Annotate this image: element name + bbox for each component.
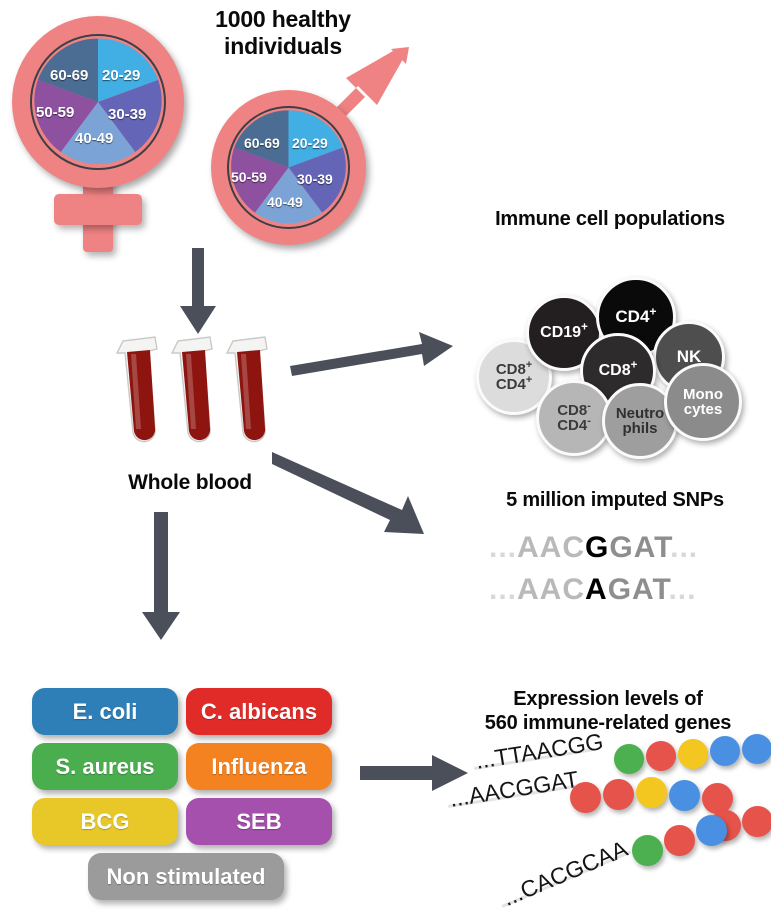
female-symbol: 20-29 30-39 40-49 50-59 60-69 (8, 12, 188, 262)
male-age-label-50-59: 50-59 (231, 169, 267, 185)
immune-cell-cluster: CD8+CD4+ CD19+ CD4+ NK CD8+ CD8-CD4- Neu… (470, 245, 760, 430)
stimulus-label-seb: SEB (236, 809, 281, 835)
male-age-label-20-29: 20-29 (292, 135, 328, 151)
expression-chains: ...TTAACGG ...AACGGAT ...CACGCAA (452, 740, 771, 915)
cell-label-cd19pos: CD19+ (540, 325, 588, 341)
blood-tube-1 (117, 337, 157, 442)
cell-label-monocytes: Monocytes (683, 387, 723, 418)
snp-right-2: GAT (608, 573, 669, 606)
cell-label-neutrophils: Neutrophils (616, 406, 664, 437)
cell-monocytes: Monocytes (664, 363, 742, 441)
arrow-blood-to-stimuli-shape (142, 512, 180, 640)
chain-2-bead-2 (603, 779, 634, 810)
female-stem-horizontal (54, 194, 142, 225)
female-age-label-50-59: 50-59 (36, 104, 74, 121)
stimulus-label-influenza: Influenza (211, 754, 306, 780)
stimulus-label-bcg: BCG (81, 809, 130, 835)
immune-cell-title: Immune cell populations (455, 208, 765, 232)
arrow-cohort-to-blood (178, 248, 218, 336)
cell-label-cd8pos: CD8+ (599, 363, 638, 379)
stimulus-label-non-stimulated: Non stimulated (107, 864, 266, 890)
blood-tube-2 (172, 337, 212, 442)
blood-tube-3 (227, 337, 267, 442)
expression-title: Expression levels of 560 immune-related … (452, 688, 764, 735)
snp-suffix-1: ... (670, 531, 698, 564)
chain-3-bead-2 (664, 825, 695, 856)
cell-label-cd8neg-cd4neg: CD8-CD4- (557, 403, 591, 434)
cell-label-cd4pos: CD4+ (615, 308, 656, 325)
chain-1-bead-1 (614, 744, 644, 774)
chain-2-bead-1 (570, 782, 601, 813)
arrow-blood-to-stimuli (140, 512, 182, 642)
chain-2-bead-7 (742, 806, 771, 837)
arrow-blood-to-immune (290, 332, 455, 377)
chain-sequence-3: ...CACGCAA (499, 835, 632, 912)
chain-1-bead-5 (742, 734, 771, 764)
snp-suffix-2: ... (668, 573, 696, 606)
cell-cd8neg-cd4neg: CD8-CD4- (536, 380, 612, 456)
expression-title-line1: Expression levels of (452, 688, 764, 712)
stimulus-c-albicans[interactable]: C. albicans (186, 688, 332, 735)
chain-3-bead-1 (632, 835, 663, 866)
arrow-blood-to-snp (272, 450, 447, 540)
female-age-label-20-29: 20-29 (102, 67, 140, 84)
snp-left-2: AAC (517, 573, 585, 606)
whole-blood-label: Whole blood (85, 471, 295, 496)
stimulus-e-coli[interactable]: E. coli (32, 688, 178, 735)
female-age-label-40-49: 40-49 (75, 130, 113, 147)
snp-sequence-row-2: ...AACAGAT... (489, 573, 696, 607)
male-age-pie: 20-29 30-39 40-49 50-59 60-69 (227, 106, 350, 229)
stimulus-seb[interactable]: SEB (186, 798, 332, 845)
female-age-pie: 20-29 30-39 40-49 50-59 60-69 (30, 34, 166, 170)
female-pie-svg (32, 36, 164, 168)
expression-title-line2: 560 immune-related genes (452, 712, 764, 736)
stimulus-s-aureus[interactable]: S. aureus (32, 743, 178, 790)
arrow-blood-to-snp-shape (272, 452, 424, 534)
stimulus-bcg[interactable]: BCG (32, 798, 178, 845)
chain-sequence-2: ...AACGGAT (448, 766, 581, 813)
arrow-cohort-to-blood-shape (180, 248, 216, 334)
arrow-blood-to-immune-shape (290, 332, 453, 376)
snp-prefix-2: ... (489, 573, 517, 606)
chain-1-bead-3 (678, 739, 708, 769)
snp-right-1: GAT (609, 531, 670, 564)
cell-label-cd8pos-cd4pos: CD8+CD4+ (496, 362, 532, 393)
whole-blood-tubes (103, 335, 283, 450)
snp-prefix-1: ... (489, 531, 517, 564)
female-age-label-30-39: 30-39 (108, 106, 146, 123)
snp-variant-1: G (585, 531, 609, 564)
stimulus-label-s-aureus: S. aureus (55, 754, 154, 780)
chain-1-bead-2 (646, 741, 676, 771)
snp-title: 5 million imputed SNPs (470, 489, 760, 513)
stimulus-label-e-coli: E. coli (73, 699, 138, 725)
snp-variant-2: A (585, 573, 608, 606)
male-symbol: 20-29 30-39 40-49 50-59 60-69 (205, 45, 415, 250)
stimulus-influenza[interactable]: Influenza (186, 743, 332, 790)
chain-2-bead-3 (636, 777, 667, 808)
male-age-label-30-39: 30-39 (297, 171, 333, 187)
chain-3-bead-3 (696, 815, 727, 846)
snp-left-1: AAC (517, 531, 585, 564)
stimulus-label-c-albicans: C. albicans (201, 699, 317, 725)
chain-1-bead-4 (710, 736, 740, 766)
female-age-label-60-69: 60-69 (50, 67, 88, 84)
snp-sequence-row-1: ...AACGGAT... (489, 531, 698, 565)
male-age-label-60-69: 60-69 (244, 135, 280, 151)
male-age-label-40-49: 40-49 (267, 194, 303, 210)
chain-2-bead-4 (669, 780, 700, 811)
stimulus-non-stimulated[interactable]: Non stimulated (88, 853, 284, 900)
figure-canvas: 1000 healthy individuals 20-29 30-39 40-… (0, 0, 771, 922)
cohort-title-line1: 1000 healthy (168, 6, 398, 33)
